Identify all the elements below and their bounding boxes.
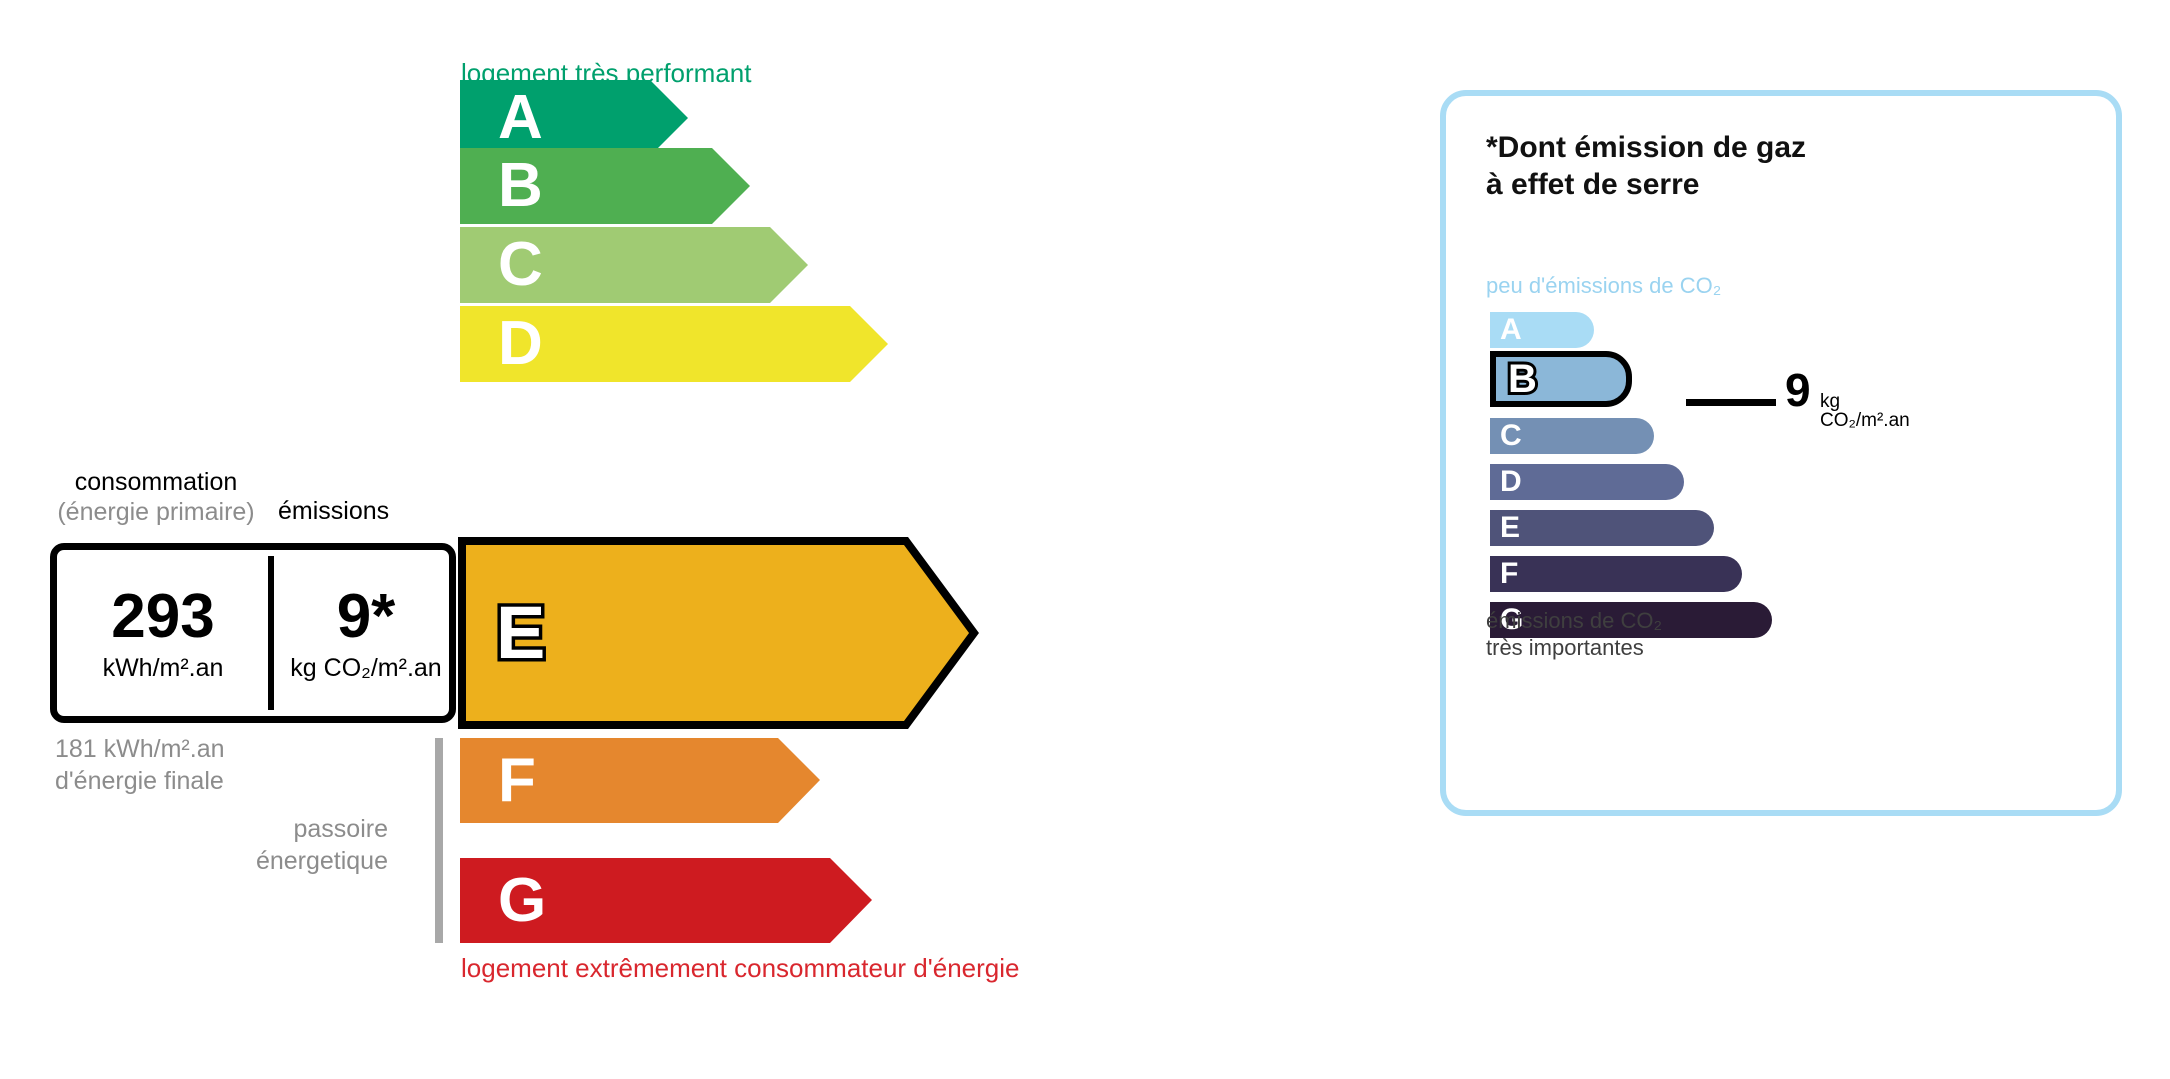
energy-performance-chart: logement très performant A B C D E [0,0,1380,1079]
greenhouse-gas-panel: *Dont émission de gaz à effet de serre p… [1440,90,2122,816]
energy-bar-D: D [460,306,896,382]
energy-bar-G: G [460,858,878,943]
passoire-energetique-marker [435,738,443,943]
energy-bar-C: C [460,227,816,303]
primary-energy-unit: kWh/m².an [103,656,224,681]
value-box-divider [268,556,274,710]
emissions-label: émissions [278,497,389,527]
co2-bar-C: C [1490,418,1654,454]
passoire-line2: énergetique [180,845,388,877]
final-energy-line1: 181 kWh/m².an [55,733,225,765]
co2-bar-B-label: B [1508,359,1537,399]
co2-title-line1: *Dont émission de gaz [1486,130,1806,167]
primary-energy-number: 293 [111,586,214,648]
co2-bar-A-label: A [1500,315,1522,345]
co2-bar-E-label: E [1500,513,1520,543]
co2-unit: kg CO₂/m².an [290,656,441,681]
co2-bar-D: D [1490,464,1684,500]
co2-bottom-caption: émissions de CO₂ très importantes [1486,608,1662,662]
co2-bar-A: A [1490,312,1594,348]
final-energy-line2: d'énergie finale [55,765,225,797]
value-box: 293 kWh/m².an 9* kg CO₂/m².an [50,543,456,723]
energy-bar-C-label: C [498,234,543,296]
co2-bar-B-selected: B 9 kg CO₂/m².an [1490,351,1632,407]
energy-bar-E-selected: E [458,537,982,729]
primary-energy-value-cell: 293 kWh/m².an [57,550,269,716]
energy-bar-A-label: A [498,87,543,149]
energy-bar-D-label: D [498,313,543,375]
co2-panel-title: *Dont émission de gaz à effet de serre [1486,130,1806,203]
co2-top-caption: peu d'émissions de CO₂ [1486,273,1721,299]
energy-bar-F: F [460,738,826,823]
co2-callout-unit: kg CO₂/m².an [1820,392,1910,430]
co2-title-line2: à effet de serre [1486,167,1806,204]
energy-bar-A: A [460,80,696,156]
energy-bar-E-label: E [496,596,545,670]
consumption-label-sub: (énergie primaire) [50,498,262,528]
co2-bar-A-shape: A [1490,312,1594,348]
co2-bar-F-shape: F [1490,556,1742,592]
co2-bottom-caption-line1: émissions de CO₂ [1486,608,1662,635]
consumption-label: consommation (énergie primaire) [50,468,262,527]
energy-bar-B: B [460,148,758,224]
co2-bar-C-shape: C [1490,418,1654,454]
final-energy-label: 181 kWh/m².an d'énergie finale [55,733,225,797]
co2-callout-value: 9 [1785,367,1811,413]
passoire-label: passoire énergetique [180,813,388,877]
co2-bar-E: E [1490,510,1714,546]
co2-bottom-caption-line2: très importantes [1486,635,1662,662]
energy-bar-B-label: B [498,155,543,217]
energy-bar-G-label: G [498,870,546,932]
energy-bar-A-shape [460,80,696,156]
co2-number: 9* [337,586,396,648]
co2-bar-B-shape: B [1490,351,1632,407]
co2-bar-D-shape: D [1490,464,1684,500]
co2-bar-C-label: C [1500,421,1522,451]
passoire-line1: passoire [180,813,388,845]
co2-bar-F: F [1490,556,1742,592]
energy-bottom-caption: logement extrêmement consommateur d'éner… [461,953,1019,984]
energy-bar-F-label: F [498,750,536,812]
co2-bar-D-label: D [1500,467,1522,497]
co2-bar-F-label: F [1500,559,1518,589]
co2-bar-E-shape: E [1490,510,1714,546]
consumption-label-main: consommation [75,468,238,496]
co2-value-cell: 9* kg CO₂/m².an [269,550,463,716]
co2-callout-leader-line [1686,399,1776,406]
